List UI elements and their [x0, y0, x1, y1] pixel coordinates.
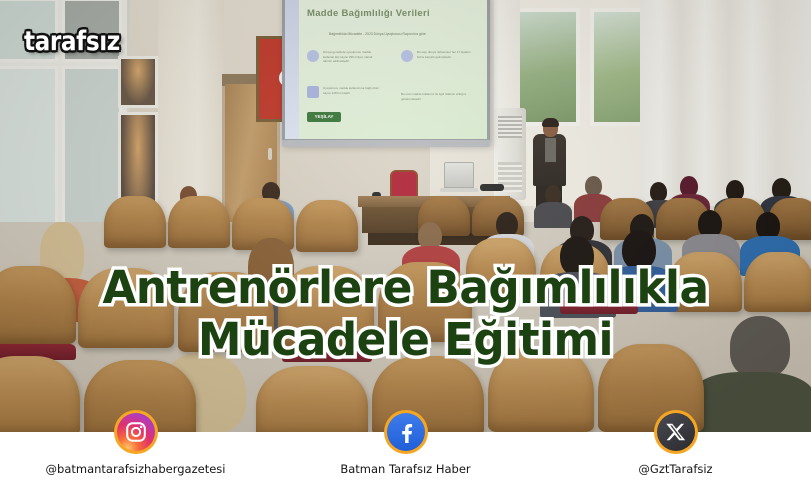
glass-pane: [0, 66, 58, 242]
laptop: [444, 162, 474, 188]
slide-bullet-4: Bu oran madde kullanımı ile ilgili riskl…: [401, 92, 471, 101]
slide-globe-icon: [307, 50, 319, 62]
slide-sideband: [285, 0, 299, 139]
window-left: [516, 8, 580, 126]
ac-grill-top: [498, 116, 522, 138]
icon-disc: [387, 413, 425, 451]
facebook-icon[interactable]: [384, 410, 428, 454]
laptop-base: [440, 188, 478, 192]
presenter-hair: [542, 118, 559, 127]
photo-scene: Madde Bağımlılığı Verileri Bağımlılıkla …: [0, 0, 811, 432]
person-head: [650, 182, 667, 202]
social-label: Batman Tarafsız Haber: [340, 462, 470, 476]
person-shoulders: [690, 372, 811, 432]
facebook-glyph: [394, 420, 418, 444]
auditorium-seat: [296, 200, 358, 252]
page-title: Antrenörlere Bağımlılıkla Mücadele Eğiti…: [12, 262, 799, 366]
news-graphic: Madde Bağımlılığı Verileri Bağımlılıkla …: [0, 0, 811, 495]
projection-screen: Madde Bağımlılığı Verileri Bağımlılıkla …: [282, 0, 490, 144]
desk-equipment: [480, 184, 504, 191]
slide-bullet-1: Dünya genelinde uyuşturucu madde kullana…: [323, 50, 381, 64]
slide-title: Madde Bağımlılığı Verileri: [307, 8, 430, 19]
auditorium-seat: [168, 196, 230, 248]
icon-disc: [657, 413, 695, 451]
projected-slide: Madde Bağımlılığı Verileri Bağımlılıkla …: [285, 0, 487, 139]
slide-subtitle: Bağımlılıkla Mücadele - 2023 Dünya Uyuşt…: [329, 32, 426, 36]
auditorium-seat: [104, 196, 166, 248]
slide-chart-icon: [307, 86, 319, 98]
screen-bottom-bar: [282, 140, 490, 147]
slide-bullet-3: Uyuşturucu madde kullanımına bağlı ölüm …: [323, 86, 381, 95]
slide-logo: YEŞİLAY: [307, 112, 341, 122]
person-head: [585, 176, 602, 196]
person-shoulders: [534, 202, 572, 228]
headline-line-2: Mücadele Eğitimi: [12, 314, 799, 366]
auditorium-seat: [256, 366, 368, 432]
social-label: @GztTarafsiz: [638, 462, 712, 476]
window-right: [590, 8, 646, 126]
icon-disc: [117, 413, 155, 451]
window-glow: [121, 59, 155, 105]
x-twitter-icon[interactable]: [654, 410, 698, 454]
social-label: @batmantarafsizhabergazetesi: [46, 462, 226, 476]
curtain-right: [640, 0, 811, 200]
headline-line-1: Antrenörlere Bağımlılıkla: [12, 262, 799, 314]
transom-window: [118, 56, 158, 108]
instagram-icon[interactable]: [114, 410, 158, 454]
tarafsiz-logo[interactable]: tarafsız: [24, 26, 120, 57]
slide-bullet-2: Bu sayı dünya nüfusunun her 17 kişiden b…: [417, 50, 475, 59]
x-glyph: [665, 421, 687, 443]
slide-people-icon: [401, 50, 413, 62]
social-links: @batmantarafsizhabergazetesi Batman Tara…: [0, 432, 811, 495]
instagram-glyph: [124, 420, 148, 444]
presenter-shirt: [545, 138, 556, 162]
door-handle: [268, 148, 272, 160]
